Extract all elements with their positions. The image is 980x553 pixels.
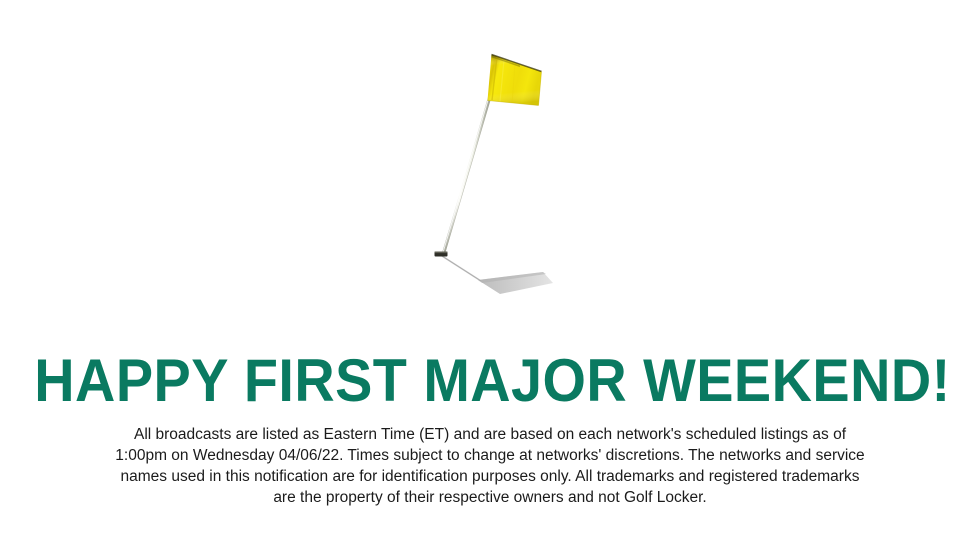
disclaimer-line: All broadcasts are listed as Eastern Tim…: [90, 424, 890, 445]
disclaimer-line: names used in this notification are for …: [90, 466, 890, 487]
golf-flag-illustration: [0, 0, 980, 310]
flag-shadow-shape: [478, 272, 553, 294]
flag-cloth: [488, 55, 542, 106]
disclaimer-text: All broadcasts are listed as Eastern Tim…: [90, 424, 890, 508]
pole-base-ferrule: [435, 252, 448, 257]
flag-pole: [442, 98, 490, 255]
page-title: HAPPY FIRST MAJOR WEEKEND!: [34, 350, 945, 412]
promo-page: HAPPY FIRST MAJOR WEEKEND! All broadcast…: [0, 0, 980, 553]
disclaimer-line: 1:00pm on Wednesday 04/06/22. Times subj…: [90, 445, 890, 466]
disclaimer-line: are the property of their respective own…: [90, 487, 890, 508]
